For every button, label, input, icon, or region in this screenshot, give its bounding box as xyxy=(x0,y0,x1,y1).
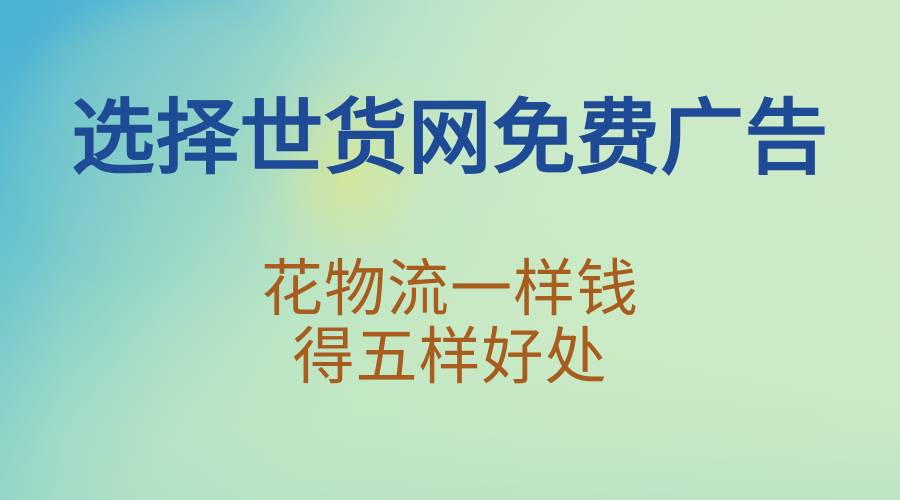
promo-banner: 选择世货网免费广告 花物流一样钱 得五样好处 xyxy=(0,0,900,500)
banner-subtitle-line-2: 得五样好处 xyxy=(0,323,900,391)
banner-headline: 选择世货网免费广告 xyxy=(0,98,900,180)
banner-subtitle-block: 花物流一样钱 得五样好处 xyxy=(0,255,900,391)
banner-content: 选择世货网免费广告 花物流一样钱 得五样好处 xyxy=(0,0,900,500)
banner-subtitle-line-1: 花物流一样钱 xyxy=(0,255,900,323)
